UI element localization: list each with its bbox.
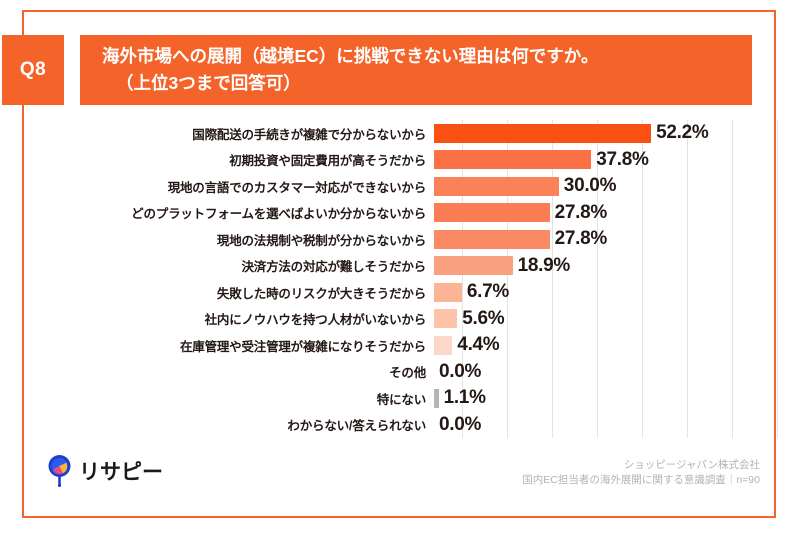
chart-bar-value: 30.0% (564, 175, 616, 197)
chart-row-label: 特にない (24, 389, 434, 408)
chart-row: 現地の法規制や税制が分からないから27.8% (24, 226, 778, 253)
credit-company: ショッピージャパン株式会社 (522, 458, 760, 473)
chart-row-label: 現地の法規制や税制が分からないから (24, 230, 434, 249)
chart-bar-wrapper: 52.2% (434, 120, 778, 147)
chart-bar (434, 389, 439, 408)
chart-row: 国際配送の手続きが複雑で分からないから52.2% (24, 120, 778, 147)
chart-bar-wrapper: 37.8% (434, 147, 778, 174)
chart-row-label: 国際配送の手続きが複雑で分からないから (24, 124, 434, 143)
chart-bar-wrapper: 4.4% (434, 332, 778, 359)
chart-bar-wrapper: 5.6% (434, 306, 778, 333)
chart-bar (434, 124, 651, 143)
chart-bar-wrapper: 27.8% (434, 226, 778, 253)
chart-bar (434, 309, 457, 328)
chart-bar-wrapper: 0.0% (434, 359, 778, 386)
chart-bar (434, 230, 550, 249)
chart-bar (434, 256, 513, 275)
chart-row: 在庫管理や受注管理が複雑になりそうだから4.4% (24, 332, 778, 359)
chart-bar (434, 150, 591, 169)
chart-row: 現地の言語でのカスタマー対応ができないから30.0% (24, 173, 778, 200)
chart-row-label: どのプラットフォームを選べばよいか分からないから (24, 203, 434, 222)
chart-row: 初期投資や固定費用が高そうだから37.8% (24, 147, 778, 174)
chart-row: 決済方法の対応が難しそうだから18.9% (24, 253, 778, 280)
chart-bar-wrapper: 1.1% (434, 385, 778, 412)
chart-bar-wrapper: 6.7% (434, 279, 778, 306)
chart-bar (434, 336, 452, 355)
pin-pie-chart-icon (46, 454, 73, 487)
question-number-badge: Q8 (2, 35, 64, 105)
chart-row: どのプラットフォームを選べばよいか分からないから27.8% (24, 200, 778, 227)
chart-bar-value: 0.0% (439, 361, 481, 383)
chart-bar-wrapper: 18.9% (434, 253, 778, 280)
chart-row: 失敗した時のリスクが大きそうだから6.7% (24, 279, 778, 306)
chart-row-label: 決済方法の対応が難しそうだから (24, 256, 434, 275)
chart-bar (434, 203, 550, 222)
chart-bar-value: 27.8% (555, 228, 607, 250)
survey-slide-card: Q8 海外市場への展開（越境EC）に挑戦できない理由は何ですか。 （上位3つまで… (22, 10, 776, 518)
chart-bar-wrapper: 30.0% (434, 173, 778, 200)
chart-bar-value: 6.7% (467, 281, 509, 303)
chart-row-label: その他 (24, 362, 434, 381)
chart-bar (434, 283, 462, 302)
credit-survey: 国内EC担当者の海外展開に関する意識調査｜n=90 (522, 473, 760, 488)
chart-bar-value: 1.1% (444, 387, 486, 409)
chart-bar (434, 177, 559, 196)
chart-row-label: わからない/答えられない (24, 415, 434, 434)
chart-bar-wrapper: 0.0% (434, 412, 778, 439)
chart-row: 社内にノウハウを持つ人材がいないから5.6% (24, 306, 778, 333)
chart-bar-wrapper: 27.8% (434, 200, 778, 227)
question-line-1: 海外市場への展開（越境EC）に挑戦できない理由は何ですか。 (102, 43, 738, 70)
chart-rows: 国際配送の手続きが複雑で分からないから52.2%初期投資や固定費用が高そうだから… (24, 120, 778, 438)
chart-row-label: 現地の言語でのカスタマー対応ができないから (24, 177, 434, 196)
chart-bar-value: 27.8% (555, 202, 607, 224)
brand-logo: リサピー (46, 454, 163, 487)
chart-bar-value: 4.4% (457, 334, 499, 356)
question-line-2: （上位3つまで回答可） (102, 70, 738, 97)
question-header: Q8 海外市場への展開（越境EC）に挑戦できない理由は何ですか。 （上位3つまで… (24, 35, 778, 105)
chart-row: 特にない1.1% (24, 385, 778, 412)
chart-row-label: 初期投資や固定費用が高そうだから (24, 150, 434, 169)
chart-bar-value: 5.6% (462, 308, 504, 330)
bar-chart: 国際配送の手続きが複雑で分からないから52.2%初期投資や固定費用が高そうだから… (24, 120, 778, 438)
chart-row-label: 失敗した時のリスクが大きそうだから (24, 283, 434, 302)
question-text-box: 海外市場への展開（越境EC）に挑戦できない理由は何ですか。 （上位3つまで回答可… (80, 35, 752, 105)
chart-row-label: 在庫管理や受注管理が複雑になりそうだから (24, 336, 434, 355)
chart-bar-value: 52.2% (656, 122, 708, 144)
chart-row: わからない/答えられない0.0% (24, 412, 778, 439)
chart-row-label: 社内にノウハウを持つ人材がいないから (24, 309, 434, 328)
survey-credits: ショッピージャパン株式会社 国内EC担当者の海外展開に関する意識調査｜n=90 (522, 458, 760, 488)
slide-footer: リサピー ショッピージャパン株式会社 国内EC担当者の海外展開に関する意識調査｜… (24, 448, 778, 500)
chart-row: その他0.0% (24, 359, 778, 386)
brand-name: リサピー (79, 456, 163, 486)
chart-bar-value: 37.8% (596, 149, 648, 171)
chart-bar-value: 0.0% (439, 414, 481, 436)
chart-bar-value: 18.9% (518, 255, 570, 277)
